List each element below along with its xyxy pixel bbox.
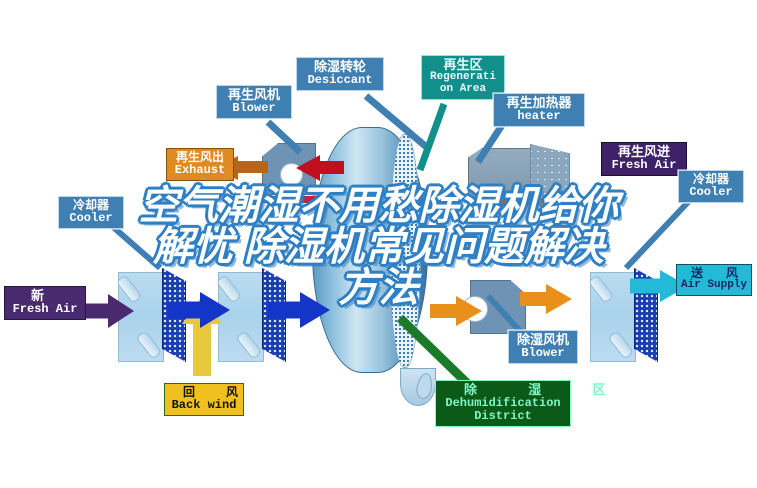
label-en: heater xyxy=(498,110,580,123)
label-cn: 再生加热器 xyxy=(498,96,580,110)
headline-line-1: 空气潮湿不用愁除湿机给你 xyxy=(48,186,709,227)
label-dehumidification-district[interactable]: 除 湿 区 Dehumidification District xyxy=(435,380,571,427)
label-cn: 再生风出 xyxy=(171,151,229,164)
label-desiccant[interactable]: 除湿转轮 Desiccant xyxy=(296,57,384,91)
label-regeneration-fresh-air[interactable]: 再生风进 Fresh Air xyxy=(601,142,687,176)
headline-line-3: 方法 xyxy=(48,268,709,309)
label-en: Fresh Air xyxy=(606,159,682,172)
arrow-shaft xyxy=(318,161,344,174)
label-en: Exhaust xyxy=(171,164,229,177)
label-en: Back wind xyxy=(169,399,239,412)
headline-line-2: 解忧 除湿机常见问题解决 xyxy=(48,227,709,268)
label-back-wind[interactable]: 回 风 Back wind xyxy=(164,383,244,416)
arrow-regeneration-in xyxy=(296,155,344,181)
overlay-headline: 空气潮湿不用愁除湿机给你 解忧 除湿机常见问题解决 方法 xyxy=(0,186,757,309)
label-en-line2: District xyxy=(440,410,566,423)
label-cn: 除湿风机 xyxy=(513,333,573,347)
label-cn: 再生风进 xyxy=(606,145,682,159)
leader-regen-area xyxy=(420,104,444,170)
arrow-head xyxy=(296,155,320,181)
label-regeneration-heater[interactable]: 再生加热器 heater xyxy=(493,93,585,127)
label-cn: 除 湿 区 xyxy=(440,383,566,397)
dehumidifier-diagram-image: xinfeng xyxy=(0,0,757,488)
label-cn: 再生区 xyxy=(426,58,500,72)
water-drain-droplet-icon xyxy=(400,368,436,406)
label-regeneration-blower[interactable]: 再生风机 Blower xyxy=(216,85,292,119)
label-en: Blower xyxy=(221,102,287,115)
label-cn: 除湿转轮 xyxy=(301,60,379,74)
label-en: Blower xyxy=(513,347,573,360)
label-cn: 再生风机 xyxy=(221,88,287,102)
label-en-line2: on Area xyxy=(426,84,500,96)
label-cn: 冷却器 xyxy=(683,173,739,186)
label-exhaust[interactable]: 再生风出 Exhaust xyxy=(166,148,234,181)
label-dehumidification-blower[interactable]: 除湿风机 Blower xyxy=(508,330,578,364)
arrow-shaft xyxy=(193,322,211,376)
label-en: Desiccant xyxy=(301,74,379,87)
label-cn: 回 风 xyxy=(169,386,239,399)
arrow-shaft xyxy=(236,161,268,173)
